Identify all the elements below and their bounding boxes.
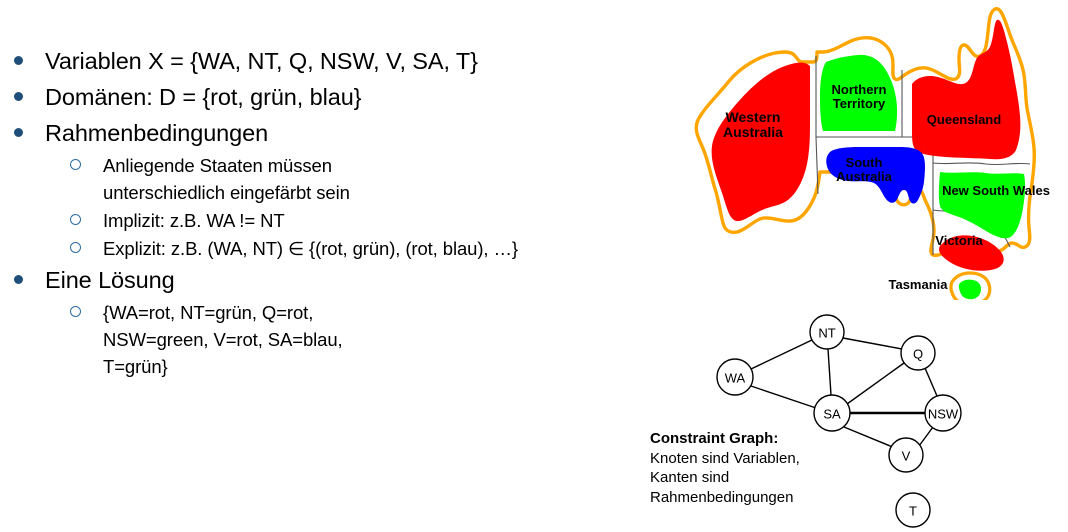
bullet-disc-icon xyxy=(14,116,45,150)
sub-bullet-text: Implizit: z.B. WA != NT xyxy=(103,207,285,234)
sub-list-item: Anliegende Staaten müssen unterschiedlic… xyxy=(0,152,660,206)
bullet-disc-icon xyxy=(14,80,45,114)
constraint-graph-caption: Constraint Graph: Knoten sind Variablen,… xyxy=(650,429,850,507)
map-label-south-australia-line2: Australia xyxy=(836,169,892,184)
sub-bullet-text: Explizit: z.B. (WA, NT) ∈ {(rot, grün), … xyxy=(103,235,518,262)
sub-list-item: Explizit: z.B. (WA, NT) ∈ {(rot, grün), … xyxy=(0,235,660,262)
sub-list-item: {WA=rot, NT=grün, Q=rot, NSW=green, V=ro… xyxy=(0,299,660,380)
sub-bullet-text: Anliegende Staaten müssen unterschiedlic… xyxy=(103,152,453,206)
bullet-ring-icon xyxy=(70,152,103,179)
bullet-text: Domänen: D = {rot, grün, blau} xyxy=(45,80,361,114)
caption-title: Constraint Graph: xyxy=(650,429,850,449)
map-label-queensland: Queensland xyxy=(927,112,1001,127)
graph-node-label: SA xyxy=(823,407,841,422)
map-region-new-south-wales xyxy=(939,172,1025,238)
caption-line-1: Knoten sind Variablen, xyxy=(650,449,850,469)
edge-nt-sa xyxy=(828,349,831,395)
edge-q-nsw xyxy=(925,368,937,396)
bullet-disc-icon xyxy=(14,263,45,297)
bullet-ring-icon xyxy=(70,207,103,234)
graph-node-label: Q xyxy=(913,347,923,362)
graph-node-label: T xyxy=(909,504,917,519)
edge-v-nsw xyxy=(919,427,933,446)
sub-bullet-text: {WA=rot, NT=grün, Q=rot, NSW=green, V=ro… xyxy=(103,299,398,380)
edge-sa-v xyxy=(844,427,895,448)
bullet-ring-icon xyxy=(70,299,103,326)
caption-line-3: Rahmenbedingungen xyxy=(650,488,850,508)
bullet-text: Variablen X = {WA, NT, Q, NSW, V, SA, T} xyxy=(45,44,478,78)
map-label-south-australia-line1: South xyxy=(846,155,883,170)
graph-node-v[interactable]: V xyxy=(889,438,923,472)
graph-node-t[interactable]: T xyxy=(896,493,930,527)
graph-node-wa[interactable]: WA xyxy=(717,359,753,395)
bullet-text: Eine Lösung xyxy=(45,263,175,297)
graph-node-label: V xyxy=(902,449,911,464)
bullet-text: Rahmenbedingungen xyxy=(45,116,268,150)
map-label-western-australia-line2: Australia xyxy=(723,124,783,140)
map-label-northern-territory-line1: Northern xyxy=(832,82,887,97)
edge-nt-q xyxy=(843,338,902,349)
graph-node-label: WA xyxy=(725,371,746,386)
edge-wa-sa xyxy=(751,386,816,408)
list-item: Variablen X = {WA, NT, Q, NSW, V, SA, T} xyxy=(0,44,660,78)
bullet-disc-icon xyxy=(14,44,45,78)
graph-node-nsw[interactable]: NSW xyxy=(925,395,961,431)
graph-node-label: NSW xyxy=(928,407,959,422)
map-label-tasmania: Tasmania xyxy=(888,277,948,292)
list-item: Eine Lösung xyxy=(0,263,660,297)
graph-node-label: NT xyxy=(818,326,835,341)
graph-node-q[interactable]: Q xyxy=(901,336,935,370)
list-item: Domänen: D = {rot, grün, blau} xyxy=(0,80,660,114)
graph-node-nt[interactable]: NT xyxy=(810,315,844,349)
map-region-queensland xyxy=(912,20,1020,159)
map-label-victoria: Victoria xyxy=(935,233,983,248)
sub-list-item: Implizit: z.B. WA != NT xyxy=(0,207,660,234)
australia-map-figure: Western Australia Northern Territory Que… xyxy=(690,0,1068,300)
map-label-western-australia-line1: Western xyxy=(726,109,781,125)
bullet-ring-icon xyxy=(70,235,103,262)
edge-q-sa xyxy=(847,363,904,404)
caption-line-2: Kanten sind xyxy=(650,468,850,488)
map-label-new-south-wales: New South Wales xyxy=(942,183,1050,198)
map-label-northern-territory-line2: Territory xyxy=(833,96,886,111)
edge-wa-nt xyxy=(751,340,812,369)
bullet-list: Variablen X = {WA, NT, Q, NSW, V, SA, T}… xyxy=(0,44,660,381)
graph-node-sa[interactable]: SA xyxy=(814,395,850,431)
list-item: Rahmenbedingungen xyxy=(0,116,660,150)
